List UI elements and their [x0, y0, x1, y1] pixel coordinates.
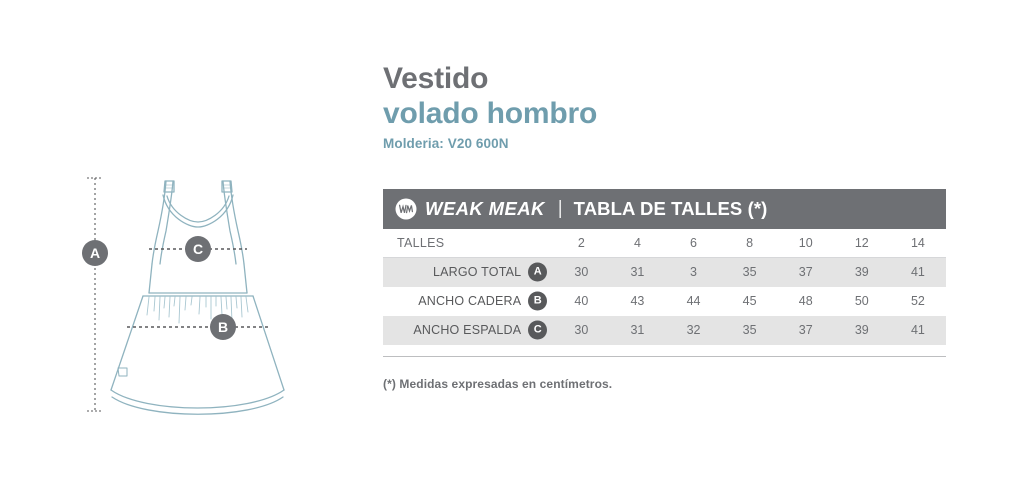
- right-strap-outer-icon: [230, 181, 244, 264]
- cell-ancho-espalda-4: 31: [609, 316, 665, 345]
- bodice-right-seam-icon: [244, 264, 247, 293]
- cell-ancho-espalda-12: 39: [834, 316, 890, 345]
- measure-a-guide: A: [82, 178, 108, 411]
- page-title: Vestido: [383, 62, 953, 96]
- dress-outline-group: [111, 181, 284, 414]
- cell-ancho-espalda-10: 37: [778, 316, 834, 345]
- measure-b-badge-label: B: [218, 319, 228, 335]
- cell-largo-total-6: 3: [665, 258, 721, 287]
- cell-ancho-cadera-6: 44: [665, 287, 721, 316]
- column-header-talles: TALLES: [383, 229, 553, 258]
- header-separator: |: [558, 198, 563, 220]
- skirt-right-side-icon: [253, 296, 284, 390]
- cell-ancho-cadera-2: 40: [553, 287, 609, 316]
- brand-name-label: WEAK MEAK: [425, 198, 545, 220]
- cell-largo-total-2: 30: [553, 258, 609, 287]
- cell-largo-total-12: 39: [834, 258, 890, 287]
- cell-largo-total-4: 31: [609, 258, 665, 287]
- bodice-left-seam-icon: [149, 264, 152, 293]
- hem-curve-outer-icon: [111, 390, 284, 408]
- row-label-text: LARGO TOTAL: [433, 265, 521, 279]
- cell-ancho-espalda-6: 32: [665, 316, 721, 345]
- cell-ancho-cadera-8: 45: [722, 287, 778, 316]
- left-strap-inner-icon: [160, 181, 173, 264]
- title-block: Vestido volado hombro Molderia: V20 600N: [383, 62, 953, 151]
- row-label-ancho-cadera: ANCHO CADERA B: [383, 287, 553, 316]
- hem-curve-inner-icon: [112, 397, 283, 414]
- measure-a-badge-label: A: [90, 245, 100, 261]
- left-strap-outer-icon: [152, 181, 166, 264]
- column-header-size-8: 8: [722, 229, 778, 258]
- measurements-table: TALLES 2 4 6 8 10 12 14 LARGO TOTAL A 30…: [383, 229, 946, 345]
- measure-c-badge-label: C: [193, 241, 203, 257]
- column-header-size-12: 12: [834, 229, 890, 258]
- cell-ancho-cadera-14: 52: [890, 287, 946, 316]
- column-header-size-14: 14: [890, 229, 946, 258]
- brand-circle-logo-icon: [395, 198, 417, 220]
- column-header-size-10: 10: [778, 229, 834, 258]
- row-badge-c: C: [528, 321, 547, 340]
- cell-ancho-espalda-14: 41: [890, 316, 946, 345]
- cell-ancho-cadera-4: 43: [609, 287, 665, 316]
- row-badge-b: B: [528, 292, 547, 311]
- row-label-text: ANCHO ESPALDA: [413, 323, 521, 337]
- table-header-bar: WEAK MEAK | TABLA DE TALLES (*): [383, 189, 946, 229]
- right-strap-inner-icon: [223, 181, 236, 264]
- column-header-size-6: 6: [665, 229, 721, 258]
- cell-largo-total-14: 41: [890, 258, 946, 287]
- pattern-code-label: Molderia: V20 600N: [383, 136, 953, 151]
- garment-technical-drawing: A C B: [70, 165, 320, 425]
- cell-ancho-cadera-12: 50: [834, 287, 890, 316]
- footnote-text: (*) Medidas expresadas en centímetros.: [383, 377, 612, 391]
- column-header-size-4: 4: [609, 229, 665, 258]
- cell-largo-total-10: 37: [778, 258, 834, 287]
- row-label-largo-total: LARGO TOTAL A: [383, 258, 553, 287]
- column-header-size-2: 2: [553, 229, 609, 258]
- table-header-title: TABLA DE TALLES (*): [574, 198, 768, 220]
- cell-ancho-cadera-10: 48: [778, 287, 834, 316]
- table-row: LARGO TOTAL A 30 31 3 35 37 39 41: [383, 258, 946, 287]
- cell-ancho-espalda-8: 35: [722, 316, 778, 345]
- table-row: ANCHO CADERA B 40 43 44 45 48 50 52: [383, 287, 946, 316]
- product-subtitle: volado hombro: [383, 96, 953, 132]
- size-chart-table: WEAK MEAK | TABLA DE TALLES (*) TALLES 2…: [383, 189, 946, 357]
- table-row: ANCHO ESPALDA C 30 31 32 35 37 39 41: [383, 316, 946, 345]
- cell-ancho-espalda-2: 30: [553, 316, 609, 345]
- row-badge-a: A: [528, 263, 547, 282]
- side-tab-icon: [118, 368, 127, 376]
- table-bottom-divider: [383, 356, 946, 357]
- cell-largo-total-8: 35: [722, 258, 778, 287]
- measure-b-guide: B: [127, 314, 268, 340]
- table-head-row: TALLES 2 4 6 8 10 12 14: [383, 229, 946, 258]
- row-label-text: ANCHO CADERA: [418, 294, 521, 308]
- row-label-ancho-espalda: ANCHO ESPALDA C: [383, 316, 553, 345]
